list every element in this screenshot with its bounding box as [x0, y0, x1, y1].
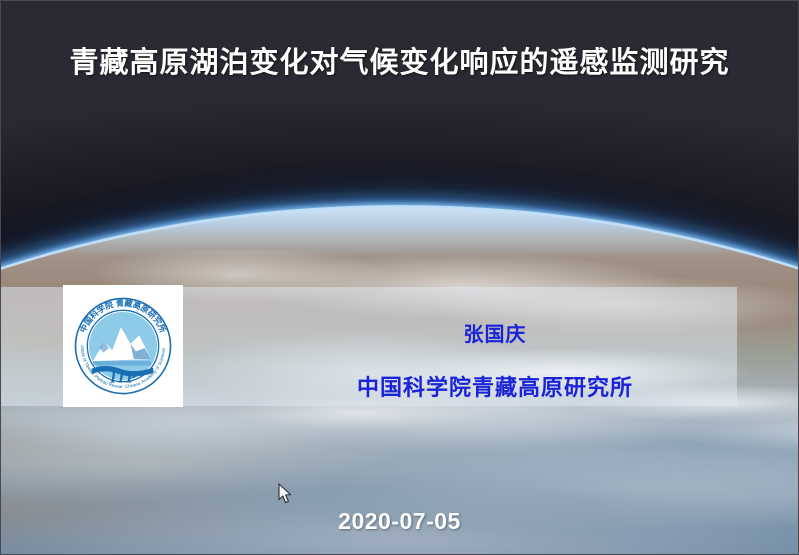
- itp-logo-svg: 中国科学院 青藏高原研究所 Institute of Tibetan Plate…: [69, 292, 177, 400]
- earth-background-image: [0, 0, 799, 555]
- slide-title: 青藏高原湖泊变化对气候变化响应的遥感监测研究: [0, 45, 799, 81]
- author-name: 张国庆: [330, 318, 660, 347]
- logo-acronym-text: ITP: [109, 369, 136, 387]
- author-affiliation: 中国科学院青藏高原研究所: [300, 370, 690, 402]
- presentation-date: 2020-07-05: [0, 508, 799, 535]
- itp-logo: 中国科学院 青藏高原研究所 Institute of Tibetan Plate…: [63, 285, 183, 407]
- presentation-slide[interactable]: 青藏高原湖泊变化对气候变化响应的遥感监测研究 中国科学院 青藏高原研究所 Ins…: [0, 0, 799, 555]
